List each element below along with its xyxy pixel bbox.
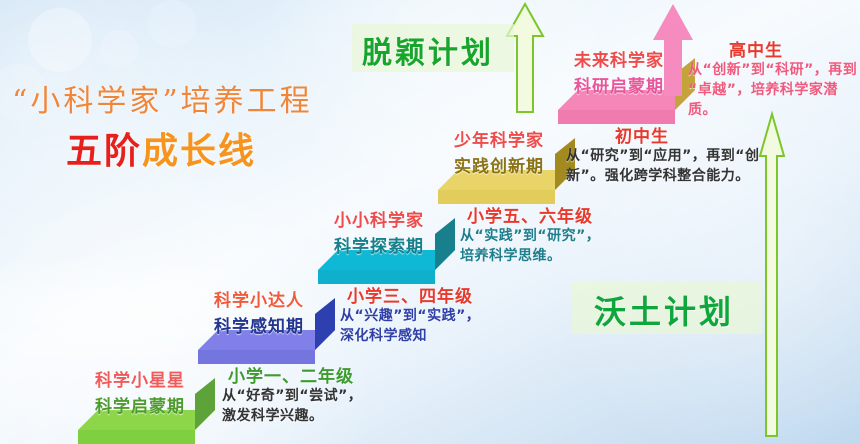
step-3-riser [435,218,455,270]
breakthrough-plan-label: 脱颖计划 [362,28,494,72]
step-1-riser [195,378,215,430]
bokeh-circle [28,8,92,72]
page-title-line1: “小科学家”培养工程 [12,76,313,120]
step-2-grade-desc-line1: 从“兴趣”到“实践”， [340,306,480,326]
step-1-grade-desc-line1: 从“好奇”到“尝试”， [222,386,362,406]
bokeh-circle [100,30,138,68]
step-5-grade-desc-line1: 从“创新”到“科研”，再到 [688,60,857,80]
step-2-grade-title: 小学三、四年级 [347,282,473,307]
step-4-grade-desc-line1: 从“研究”到“应用”，再到“创 [566,146,760,166]
step-1-tier-stage: 科学启蒙期 [95,392,185,417]
step-2-grade-desc-line2: 深化科学感知 [340,326,427,346]
step-3-front-face [318,270,435,284]
step-3-grade-title: 小学五、六年级 [467,202,593,227]
step-5-grade-title: 高中生 [729,36,783,61]
step-3-grade-desc-line2: 培养科学思维。 [460,246,562,266]
pink-growth-arrow [650,2,696,98]
fertile-soil-plan-label: 沃土计划 [594,287,734,333]
step-5-front-face [558,110,675,124]
step-1-grade-title: 小学一、二年级 [228,362,354,387]
step-2-tier-stage: 科学感知期 [214,312,304,337]
bokeh-circle [148,0,196,48]
step-4-tier-stage: 实践创新期 [454,152,544,177]
step-4-tier-name: 少年科学家 [454,126,544,151]
page-title-line2-part-a: 五阶 [66,131,142,172]
step-3-tier-stage: 科学探索期 [334,232,424,257]
step-2-tier-name: 科学小达人 [214,286,304,311]
step-4-grade-title: 初中生 [615,122,669,147]
step-4-front-face [438,190,555,204]
step-4-grade-desc-line2: 新”。强化跨学科整合能力。 [566,166,750,186]
fertile-soil-arrow-shape [760,114,784,436]
fertile-soil-arrow [758,112,788,438]
step-2-front-face [198,350,315,364]
infographic-canvas: 科学小星星 科学启蒙期 小学一、二年级 从“好奇”到“尝试”， 激发科学兴趣。 … [0,0,860,444]
page-title-line2: 五阶成长线 [66,122,256,174]
step-2-riser [315,298,335,350]
step-1-front-face [78,430,195,444]
step-3-grade-desc-line1: 从“实践”到“研究”， [460,226,600,246]
step-1-grade-desc-line2: 激发科学兴趣。 [222,406,324,426]
page-title-line2-part-b: 成长线 [142,131,256,172]
step-3-tier-name: 小小科学家 [334,206,424,231]
step-1-tier-name: 科学小星星 [95,366,185,391]
pink-growth-arrow-shape [653,4,693,96]
